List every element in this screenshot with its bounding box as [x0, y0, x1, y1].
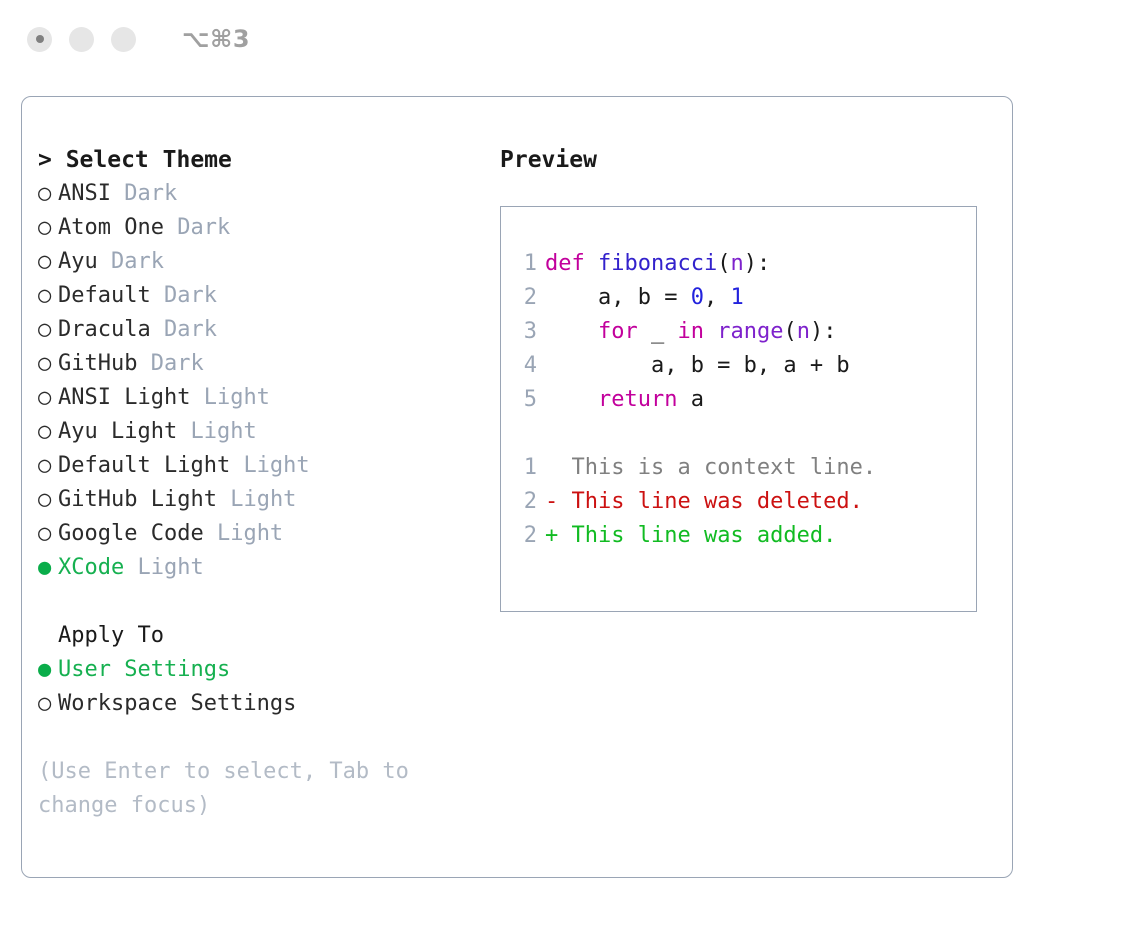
code-line: 4 a, b = b, a + b	[513, 349, 976, 383]
code-preview: 1def fibonacci(n):2 a, b = 0, 13 for _ i…	[513, 247, 976, 417]
code-token: return	[598, 387, 677, 412]
theme-option-label: Default	[58, 283, 151, 308]
code-token: for	[598, 319, 638, 344]
diff-line: 2- This line was deleted.	[513, 485, 976, 519]
theme-option-row[interactable]: ○Ayu Dark	[38, 245, 468, 279]
theme-variant-label: Dark	[164, 283, 217, 308]
code-token: def	[545, 251, 585, 276]
line-number: 3	[513, 315, 537, 349]
code-token	[545, 319, 598, 344]
theme-variant-label: Light	[137, 555, 203, 580]
line-number: 2	[513, 519, 537, 553]
code-token	[704, 319, 717, 344]
code-token: a	[677, 387, 704, 412]
window-controls	[27, 27, 136, 52]
line-number: 5	[513, 383, 537, 417]
diff-sign: +	[545, 523, 558, 548]
theme-option-label: ANSI	[58, 181, 111, 206]
radio-unselected-icon: ○	[38, 177, 58, 211]
title-bar: ⌥⌘3	[0, 0, 1140, 78]
line-number: 2	[513, 485, 537, 519]
label-separator	[190, 385, 203, 410]
label-separator	[111, 181, 124, 206]
apply-to-option-list: ●User Settings○Workspace Settings	[38, 653, 468, 721]
diff-line: 1 This is a context line.	[513, 451, 976, 485]
code-token: ,	[704, 285, 731, 310]
code-token: (	[717, 251, 730, 276]
diff-text: This is a context line.	[558, 455, 876, 480]
radio-unselected-icon: ○	[38, 381, 58, 415]
app-window: ⌥⌘3 > Select Theme ○ANSI Dark○Atom One D…	[0, 0, 1140, 934]
window-dot-close[interactable]	[27, 27, 52, 52]
preview-title: Preview	[500, 143, 995, 177]
radio-unselected-icon: ○	[38, 313, 58, 347]
theme-option-label: ANSI Light	[58, 385, 190, 410]
theme-option-label: Ayu Light	[58, 419, 177, 444]
label-separator	[217, 487, 230, 512]
radio-unselected-icon: ○	[38, 517, 58, 551]
window-dot-maximize[interactable]	[111, 27, 136, 52]
label-separator	[137, 351, 150, 376]
code-token: n	[730, 251, 743, 276]
label-separator	[204, 521, 217, 546]
apply-to-option-label: User Settings	[58, 657, 230, 682]
radio-unselected-icon: ○	[38, 245, 58, 279]
diff-line: 2+ This line was added.	[513, 519, 976, 553]
section-spacer	[38, 585, 468, 619]
label-separator	[177, 419, 190, 444]
theme-option-row[interactable]: ○ANSI Light Light	[38, 381, 468, 415]
theme-variant-label: Dark	[164, 317, 217, 342]
line-number: 4	[513, 349, 537, 383]
apply-to-option-row[interactable]: ○Workspace Settings	[38, 687, 468, 721]
label-separator	[151, 317, 164, 342]
code-token	[585, 251, 598, 276]
radio-unselected-icon: ○	[38, 279, 58, 313]
apply-to-option-row[interactable]: ●User Settings	[38, 653, 468, 687]
code-token: in	[677, 319, 704, 344]
code-token: n	[797, 319, 810, 344]
label-separator	[124, 555, 137, 580]
theme-option-row[interactable]: ○Atom One Dark	[38, 211, 468, 245]
theme-variant-label: Dark	[177, 215, 230, 240]
keyboard-shortcut-label: ⌥⌘3	[182, 25, 250, 53]
code-line: 5 return a	[513, 383, 976, 417]
theme-option-row[interactable]: ○ANSI Dark	[38, 177, 468, 211]
code-token: ):	[810, 319, 837, 344]
code-token: (	[783, 319, 796, 344]
select-theme-header: > Select Theme	[38, 143, 468, 177]
code-token: a, b = b, a + b	[545, 353, 850, 378]
code-token	[545, 387, 598, 412]
diff-text: This line was added.	[558, 523, 836, 548]
code-token: 0	[691, 285, 704, 310]
theme-variant-label: Light	[230, 487, 296, 512]
code-line: 2 a, b = 0, 1	[513, 281, 976, 315]
theme-variant-label: Light	[243, 453, 309, 478]
label-separator	[164, 215, 177, 240]
theme-option-label: Google Code	[58, 521, 204, 546]
code-token: a, b =	[545, 285, 691, 310]
apply-to-header: Apply To	[38, 619, 468, 653]
theme-option-row[interactable]: ○Dracula Dark	[38, 313, 468, 347]
radio-selected-icon: ●	[38, 551, 58, 585]
theme-variant-label: Dark	[151, 351, 204, 376]
label-separator	[230, 453, 243, 478]
theme-option-label: GitHub	[58, 351, 137, 376]
theme-variant-label: Light	[217, 521, 283, 546]
diff-sign: -	[545, 489, 558, 514]
diff-text: This line was deleted.	[558, 489, 863, 514]
theme-option-label: Atom One	[58, 215, 164, 240]
hint-spacer	[38, 721, 468, 755]
theme-variant-label: Dark	[124, 181, 177, 206]
line-number: 1	[513, 247, 537, 281]
theme-option-row[interactable]: ○Ayu Light Light	[38, 415, 468, 449]
preview-box: 1def fibonacci(n):2 a, b = 0, 13 for _ i…	[500, 206, 977, 612]
code-token: 1	[730, 285, 743, 310]
apply-to-option-label: Workspace Settings	[58, 691, 296, 716]
radio-unselected-icon: ○	[38, 211, 58, 245]
radio-unselected-icon: ○	[38, 449, 58, 483]
theme-option-row[interactable]: ○Google Code Light	[38, 517, 468, 551]
main-panel: > Select Theme ○ANSI Dark○Atom One Dark○…	[21, 96, 1013, 878]
theme-option-label: XCode	[58, 555, 124, 580]
line-number: 2	[513, 281, 537, 315]
theme-option-row[interactable]: ○Default Light Light	[38, 449, 468, 483]
theme-option-row[interactable]: ●XCode Light	[38, 551, 468, 585]
keyboard-hint-text: (Use Enter to select, Tab to change focu…	[38, 755, 438, 823]
diff-sign	[545, 455, 558, 480]
theme-picker-column: > Select Theme ○ANSI Dark○Atom One Dark○…	[38, 143, 468, 823]
theme-option-list: ○ANSI Dark○Atom One Dark○Ayu Dark○Defaul…	[38, 177, 468, 585]
theme-option-row[interactable]: ○GitHub Dark	[38, 347, 468, 381]
radio-unselected-icon: ○	[38, 483, 58, 517]
line-number: 1	[513, 451, 537, 485]
theme-option-row[interactable]: ○Default Dark	[38, 279, 468, 313]
theme-option-label: Ayu	[58, 249, 98, 274]
theme-variant-label: Light	[204, 385, 270, 410]
theme-option-row[interactable]: ○GitHub Light Light	[38, 483, 468, 517]
window-dot-minimize[interactable]	[69, 27, 94, 52]
theme-variant-label: Light	[190, 419, 256, 444]
window-dot-active-indicator	[36, 35, 44, 43]
preview-gap	[513, 417, 976, 451]
radio-unselected-icon: ○	[38, 347, 58, 381]
theme-option-label: Dracula	[58, 317, 151, 342]
radio-unselected-icon: ○	[38, 687, 58, 721]
diff-preview: 1 This is a context line.2- This line wa…	[513, 451, 976, 553]
theme-option-label: Default Light	[58, 453, 230, 478]
radio-selected-icon: ●	[38, 653, 58, 687]
theme-variant-label: Dark	[111, 249, 164, 274]
code-token: ):	[744, 251, 771, 276]
theme-option-label: GitHub Light	[58, 487, 217, 512]
code-token: _	[638, 319, 678, 344]
code-token: fibonacci	[598, 251, 717, 276]
code-token: range	[717, 319, 783, 344]
preview-column: Preview 1def fibonacci(n):2 a, b = 0, 13…	[500, 143, 995, 612]
label-separator	[151, 283, 164, 308]
radio-unselected-icon: ○	[38, 415, 58, 449]
label-separator	[98, 249, 111, 274]
code-line: 1def fibonacci(n):	[513, 247, 976, 281]
code-line: 3 for _ in range(n):	[513, 315, 976, 349]
